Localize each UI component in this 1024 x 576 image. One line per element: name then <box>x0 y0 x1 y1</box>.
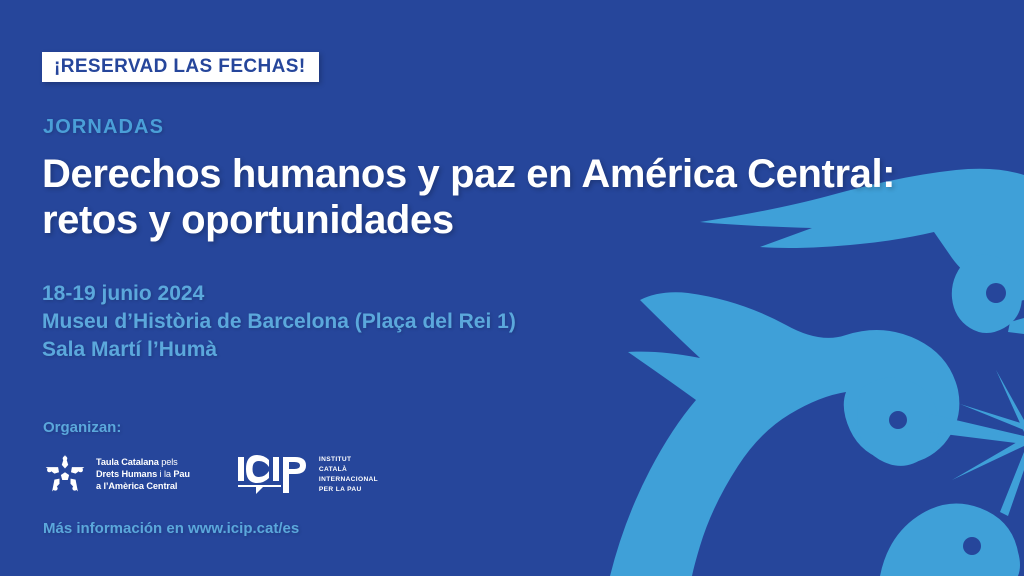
icip-line2: CATALÀ <box>319 465 378 475</box>
event-details: 18-19 junio 2024 Museu d’Història de Bar… <box>42 280 516 364</box>
logo-taula-catalana: Taula Catalana pels Drets Humans i la Pa… <box>42 452 190 498</box>
organizer-logos: Taula Catalana pels Drets Humans i la Pa… <box>42 452 378 498</box>
icip-line4: PER LA PAU <box>319 485 378 495</box>
event-room: Sala Martí l’Humà <box>42 336 516 364</box>
event-kicker: JORNADAS <box>43 117 164 137</box>
taula-line2-thin: i la <box>160 469 171 479</box>
icip-wordmark-icon <box>236 454 310 496</box>
page-title-line-2: retos y oportunidades <box>42 197 1002 243</box>
taula-line3: a l’Amèrica Central <box>96 481 190 493</box>
page-title: Derechos humanos y paz en América Centra… <box>42 151 1002 244</box>
logo-icip-subtitle: INSTITUT CATALÀ INTERNACIONAL PER LA PAU <box>319 455 378 495</box>
taula-line1-bold: Taula Catalana <box>96 457 159 467</box>
taula-line1-thin: pels <box>161 457 177 467</box>
star-people-icon <box>42 452 88 498</box>
icip-line1: INSTITUT <box>319 455 378 465</box>
taula-line2-bold-b: Pau <box>173 469 190 479</box>
more-info-text: Más información en www.icip.cat/es <box>43 521 299 536</box>
logo-icip: INSTITUT CATALÀ INTERNACIONAL PER LA PAU <box>236 454 378 496</box>
icip-line3: INTERNACIONAL <box>319 475 378 485</box>
taula-line2-bold-a: Drets Humans <box>96 469 157 479</box>
organizers-label: Organizan: <box>43 420 121 435</box>
page-title-line-1: Derechos humanos y paz en América Centra… <box>42 151 1002 197</box>
save-the-date-badge: ¡RESERVAD LAS FECHAS! <box>42 52 319 82</box>
poster-content: ¡RESERVAD LAS FECHAS! JORNADAS Derechos … <box>42 0 662 576</box>
logo-taula-wordmark: Taula Catalana pels Drets Humans i la Pa… <box>96 457 190 492</box>
event-poster: ¡RESERVAD LAS FECHAS! JORNADAS Derechos … <box>0 0 1024 576</box>
event-venue: Museu d’Història de Barcelona (Plaça del… <box>42 308 516 336</box>
event-date: 18-19 junio 2024 <box>42 280 516 308</box>
